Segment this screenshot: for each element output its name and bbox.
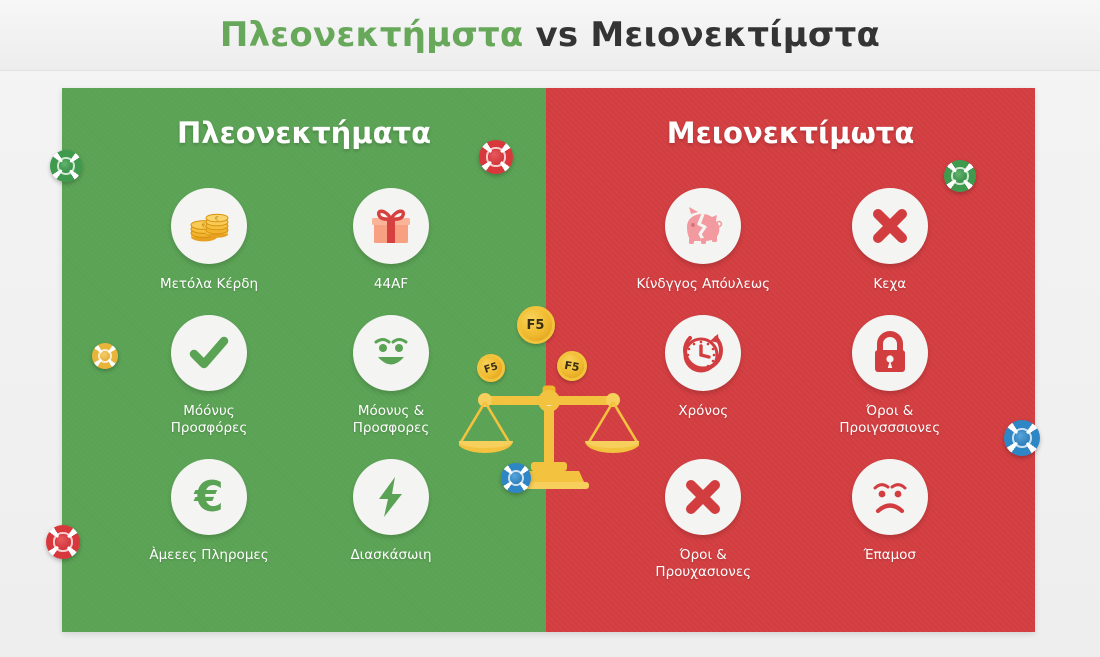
- infographic-page: Πλεονεκτήμστα vs Μειονεκτίμστα Πλεονεκτή…: [0, 0, 1100, 657]
- pros-item-2[interactable]: ΜόόνυςΠροσφόρες: [118, 315, 300, 437]
- cons-item-3-label: Όροι &Προιγσσσιονες: [839, 403, 940, 437]
- coins-stack-icon: € €: [171, 188, 247, 264]
- chip-green-left-top: [50, 150, 82, 182]
- pros-item-1-label: 44AF: [374, 276, 408, 293]
- header-divider: [0, 70, 1100, 71]
- svg-text:€: €: [193, 473, 223, 521]
- gift-box-icon: [353, 188, 429, 264]
- broken-piggy-bank-icon: [665, 188, 741, 264]
- cons-item-0-label: Κίνδγγος Απόυλεως: [636, 276, 770, 293]
- header-band: Πλεονεκτήμστα vs Μειονεκτίμστα: [0, 0, 1100, 70]
- pros-item-0[interactable]: € € Μετόλα Κέρδη: [118, 188, 300, 293]
- chip-green-right-top: [944, 160, 976, 192]
- smiley-happy-icon: [353, 315, 429, 391]
- cons-item-grid: Κίνδγγος Απόυλεως Κεχα: [546, 188, 1035, 580]
- cross-x-icon: [665, 459, 741, 535]
- pros-item-4-label: Àμεεες Πληρομες: [149, 547, 268, 564]
- cons-heading: Μειονεκτίμωτα: [546, 116, 1035, 150]
- pros-item-1[interactable]: 44AF: [300, 188, 482, 293]
- pros-item-5-label: Διασκάσωιη: [350, 547, 431, 564]
- title-cons-word: Μειονεκτίμστα: [590, 15, 880, 55]
- title-vs-word: vs: [523, 15, 590, 55]
- pros-item-0-label: Μετόλα Κέρδη: [160, 276, 258, 293]
- cons-item-4-label: Όροι &Προυχασιονες: [655, 547, 751, 581]
- chip-red-left-bottom: [46, 525, 80, 559]
- cons-item-1-label: Κεχα: [873, 276, 906, 293]
- lightning-bolt-icon: [353, 459, 429, 535]
- svg-text:€: €: [215, 215, 219, 223]
- page-title: Πλεονεκτήμστα vs Μειονεκτίμστα: [220, 15, 880, 55]
- chip-gold-left-mid: [92, 343, 118, 369]
- comparison-board: Πλεονεκτήματα €: [62, 88, 1035, 632]
- smiley-sad-icon: [852, 459, 928, 535]
- title-pros-word: Πλεονεκτήμστα: [220, 15, 524, 55]
- pros-panel: Πλεονεκτήματα €: [62, 88, 546, 632]
- pros-heading: Πλεονεκτήματα: [62, 116, 546, 150]
- chip-red-center-top: [479, 140, 513, 174]
- checkmark-icon: [171, 315, 247, 391]
- cons-item-0[interactable]: Κίνδγγος Απόυλεως: [610, 188, 797, 293]
- cons-item-1[interactable]: Κεχα: [797, 188, 984, 293]
- cons-item-5-label: Έπαμοσ: [863, 547, 916, 564]
- pros-item-5[interactable]: Διασκάσωιη: [300, 459, 482, 564]
- clock-icon: [665, 315, 741, 391]
- chip-blue-right-mid: [1004, 420, 1040, 456]
- cons-item-3[interactable]: Όροι &Προιγσσσιονες: [797, 315, 984, 437]
- pros-item-2-label: ΜόόνυςΠροσφόρες: [171, 403, 248, 437]
- pros-item-grid: € € Μετόλα Κέρδη: [62, 188, 546, 564]
- cons-item-2[interactable]: Χρόνος: [610, 315, 797, 437]
- euro-sign-icon: €: [171, 459, 247, 535]
- padlock-icon: [852, 315, 928, 391]
- cons-item-5[interactable]: Έπαμοσ: [797, 459, 984, 581]
- cons-item-4[interactable]: Όροι &Προυχασιονες: [610, 459, 797, 581]
- pros-item-3[interactable]: Μόονυς &Προσφορες: [300, 315, 482, 437]
- cons-item-2-label: Χρόνος: [678, 403, 728, 420]
- pros-item-3-label: Μόονυς &Προσφορες: [353, 403, 430, 437]
- pros-item-4[interactable]: € Àμεεες Πληρομες: [118, 459, 300, 564]
- cross-x-icon: [852, 188, 928, 264]
- chip-blue-center-low: [501, 463, 531, 493]
